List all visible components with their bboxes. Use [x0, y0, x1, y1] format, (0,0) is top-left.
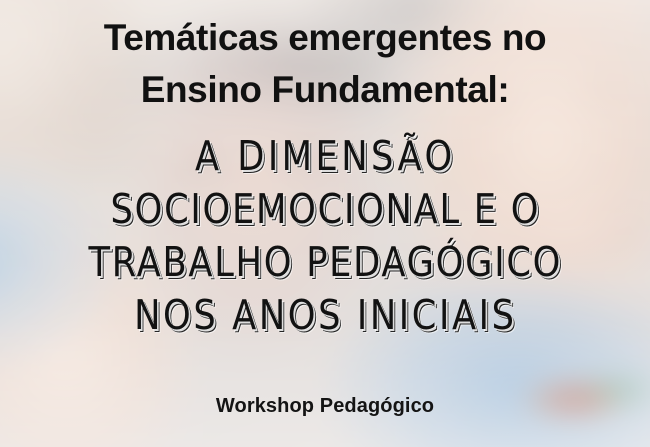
event-type-label: Workshop Pedagógico	[0, 395, 650, 418]
slide-canvas: Temáticas emergentes no Ensino Fundament…	[0, 0, 650, 447]
slide-content: Temáticas emergentes no Ensino Fundament…	[0, 0, 650, 447]
page-title: Temáticas emergentes no Ensino Fundament…	[104, 12, 547, 116]
stylized-subtitle-line-4: NOS ANOS INICIAIS	[88, 289, 562, 342]
stylized-subtitle-line-1: A DIMENSÃO	[88, 130, 562, 183]
page-title-line-1: Temáticas emergentes no	[104, 12, 547, 64]
stylized-subtitle-line-2: SOCIOEMOCIONAL E O	[88, 183, 562, 236]
stylized-subtitle-line-3: TRABALHO PEDAGÓGICO	[88, 236, 562, 289]
stylized-subtitle: A DIMENSÃO SOCIOEMOCIONAL E O TRABALHO P…	[88, 130, 562, 342]
page-title-line-2: Ensino Fundamental:	[104, 64, 547, 116]
